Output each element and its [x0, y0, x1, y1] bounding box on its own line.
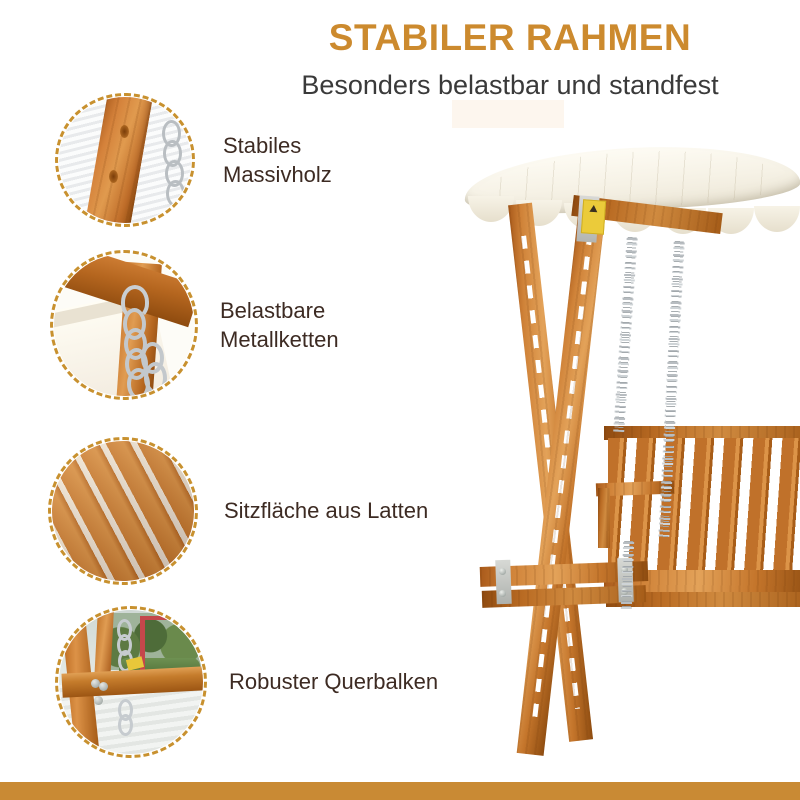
feature-row-2: Belastbare Metallketten [50, 250, 339, 400]
page-title: STABILER RAHMEN [230, 18, 790, 59]
thumb-sitzflaeche-aus-latten [48, 437, 198, 585]
feature-label-3: Sitzfläche aus Latten [224, 496, 428, 525]
feature-label-1: Stabiles Massivholz [223, 131, 332, 189]
thumb-belastbare-metallketten [50, 250, 198, 400]
feature-label-4: Robuster Querbalken [229, 667, 438, 696]
chain-link-icon [118, 714, 133, 736]
chain-link-icon [166, 180, 185, 207]
thumb-photo-2 [54, 254, 194, 396]
product-image-swing-bench [452, 140, 800, 780]
canopy-scallop [468, 196, 514, 222]
header-accent-patch [452, 100, 564, 128]
header: STABILER RAHMEN Besonders belastbar und … [230, 18, 790, 101]
feature-label-2: Belastbare Metallketten [220, 296, 339, 354]
bolt-icon [499, 568, 506, 575]
crossbar-plate [495, 560, 512, 604]
thumb-robuster-querbalken [55, 606, 207, 758]
suspension-chain-front [613, 236, 638, 432]
bolt-icon [499, 590, 506, 597]
scene-wood-post [59, 97, 191, 223]
product-feature-infographic: STABILER RAHMEN Besonders belastbar und … [0, 0, 800, 800]
feature-row-4: Robuster Querbalken [55, 606, 438, 758]
wood-knot-icon [120, 125, 129, 138]
feature-row-1: Stabiles Massivholz [55, 93, 332, 227]
scene-seat-slats [52, 441, 194, 581]
feature-row-3: Sitzfläche aus Latten [48, 437, 428, 585]
scene-crossbeam-garden [59, 610, 203, 754]
red-rail [140, 616, 172, 620]
scene-chain-hook [54, 254, 194, 396]
thumb-photo-1 [59, 97, 191, 223]
bench-backrest-slats [608, 438, 800, 570]
bolt-icon [91, 679, 100, 688]
bolt-icon [94, 696, 103, 705]
slats-shading [52, 441, 194, 581]
canopy-scallop [754, 206, 800, 232]
bench-arm-post [598, 488, 610, 548]
thumb-stabiles-massivholz [55, 93, 195, 227]
chain-link-icon [144, 362, 167, 394]
warning-tag-icon [581, 199, 606, 235]
bottom-accent-bar [0, 782, 800, 800]
thumb-photo-3 [52, 441, 194, 581]
thumb-photo-4 [59, 610, 203, 754]
